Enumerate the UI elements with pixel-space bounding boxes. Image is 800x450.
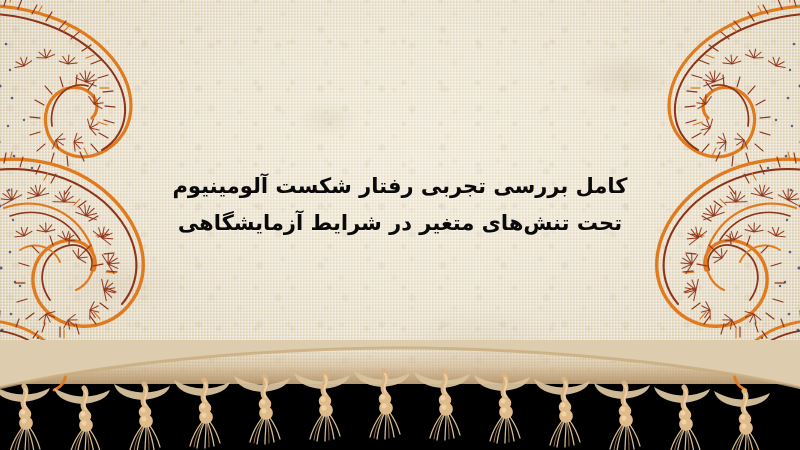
title-line-2: تحت تنش‌های متغیر در شرایط آزمایشگاهی <box>0 205 800 242</box>
title-block: کامل بررسی تجربی رفتار شکست آلومینیوم تح… <box>0 168 800 242</box>
title-card-canvas: کامل بررسی تجربی رفتار شکست آلومینیوم تح… <box>0 0 800 450</box>
title-line-1: کامل بررسی تجربی رفتار شکست آلومینیوم <box>0 168 800 205</box>
tassel-fringe <box>0 360 800 450</box>
